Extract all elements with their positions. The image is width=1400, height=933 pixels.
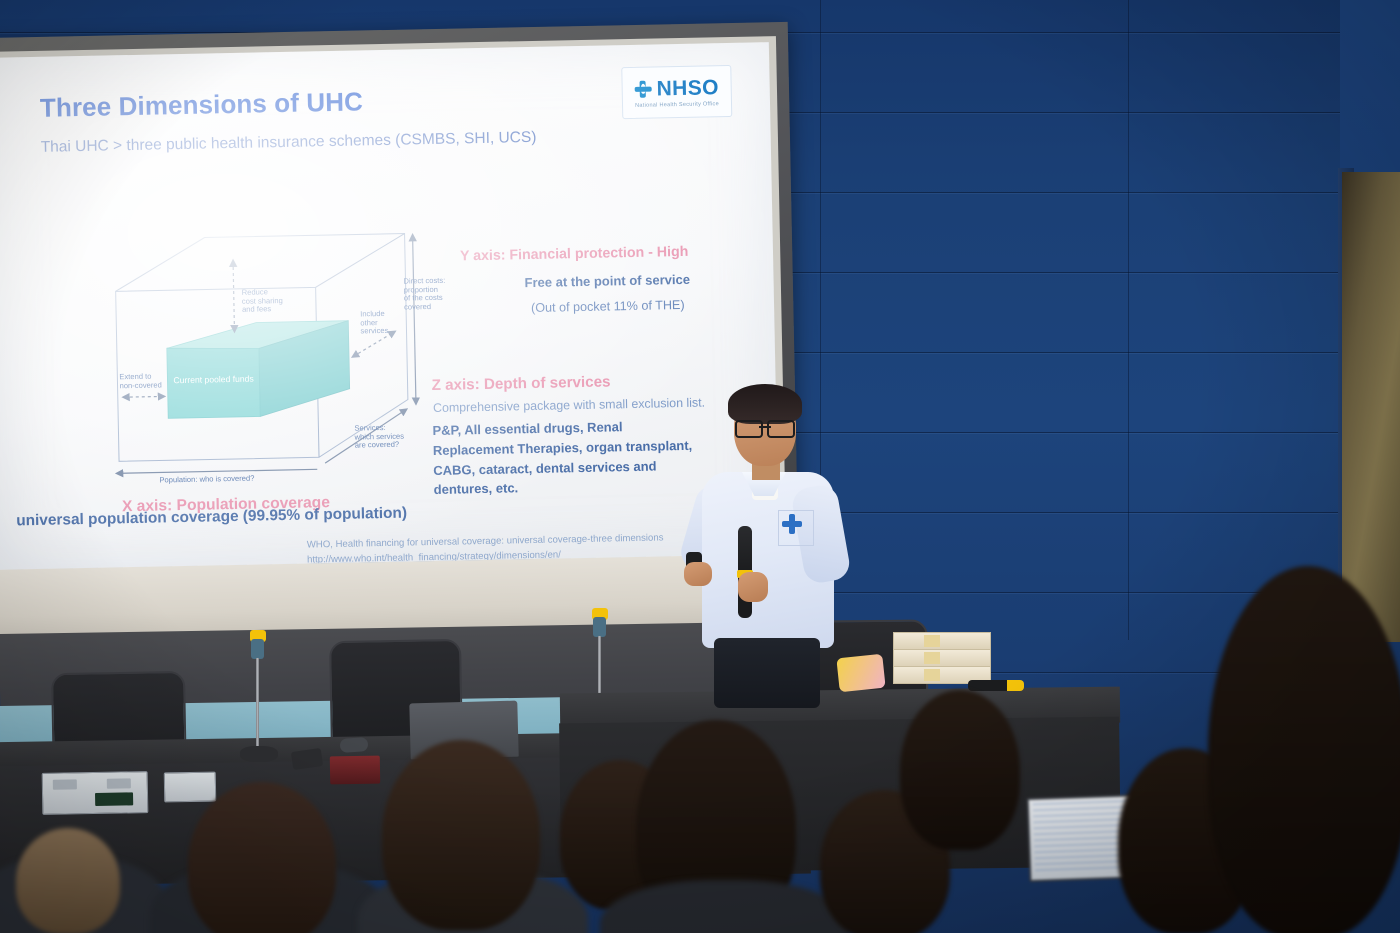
- page-title: Three Dimensions of UHC: [40, 86, 364, 123]
- audience-member: [382, 740, 540, 930]
- audience-member: [1208, 566, 1400, 933]
- stacked-books[interactable]: [893, 632, 989, 684]
- cube-label-direct-costs: Direct costs: proportion of the costs co…: [403, 277, 445, 312]
- mic-gooseneck: [256, 658, 259, 750]
- y-axis-heading: Y axis: Financial protection - High: [460, 244, 689, 265]
- uhc-cube-svg: [106, 227, 441, 496]
- uhc-cube-diagram: Reduce cost sharing and fees Include oth…: [106, 227, 441, 496]
- audience-member: [900, 690, 1020, 850]
- presenter-right-hand: [738, 572, 768, 602]
- mic-capsule: [593, 617, 606, 637]
- nhso-logo-tagline: National Health Security Office: [635, 101, 719, 109]
- mic-capsule: [251, 639, 264, 659]
- red-interface-box[interactable]: [330, 756, 380, 785]
- x-axis-line-1: universal population coverage (99.95% of…: [16, 505, 407, 531]
- nhso-logo-word: NHSO: [656, 76, 719, 101]
- computer-mouse[interactable]: [340, 737, 369, 753]
- nhso-logo: NHSO National Health Security Office: [621, 65, 732, 119]
- audio-mixer[interactable]: [42, 771, 149, 815]
- presenter-trousers: [714, 638, 820, 708]
- presenter-left-hand: [684, 562, 712, 586]
- signal-box[interactable]: [164, 772, 217, 803]
- y-axis-line-1: Free at the point of service: [524, 272, 690, 290]
- doorway[interactable]: [1342, 172, 1400, 642]
- cube-label-include-other-services: Include other services: [360, 310, 388, 336]
- medical-cross-icon: [634, 81, 651, 98]
- z-axis-line-2: P&P, All essential drugs, Renal Replacem…: [432, 416, 704, 500]
- z-axis-heading: Z axis: Depth of services: [431, 373, 610, 394]
- slide-subtitle: Thai UHC > three public health insurance…: [41, 129, 537, 157]
- nhso-badge-icon: [782, 514, 802, 534]
- mic-base: [240, 746, 278, 762]
- cube-label-current-pooled-funds: Current pooled funds: [173, 375, 253, 386]
- cube-label-services-axis: Services: which services are covered?: [354, 424, 404, 450]
- handheld-microphone[interactable]: [968, 680, 1024, 691]
- presenter-hair: [728, 384, 802, 424]
- presenter: [686, 386, 856, 706]
- audience-member: [188, 782, 336, 933]
- audience-member: [16, 828, 120, 933]
- cube-label-reduce-cost-sharing: Reduce cost sharing and fees: [242, 288, 283, 314]
- gooseneck-microphone[interactable]: [236, 630, 282, 760]
- z-axis-line-1: Comprehensive package with small exclusi…: [433, 396, 705, 415]
- cube-label-extend-to-non-covered: Extend to non-covered: [119, 372, 162, 390]
- projected-slide: Three Dimensions of UHC Thai UHC > three…: [0, 42, 779, 570]
- y-axis-line-2: (Out of pocket 11% of THE): [531, 298, 685, 315]
- conference-room-photo: Three Dimensions of UHC Thai UHC > three…: [0, 0, 1400, 933]
- eyeglasses-icon: [735, 420, 795, 434]
